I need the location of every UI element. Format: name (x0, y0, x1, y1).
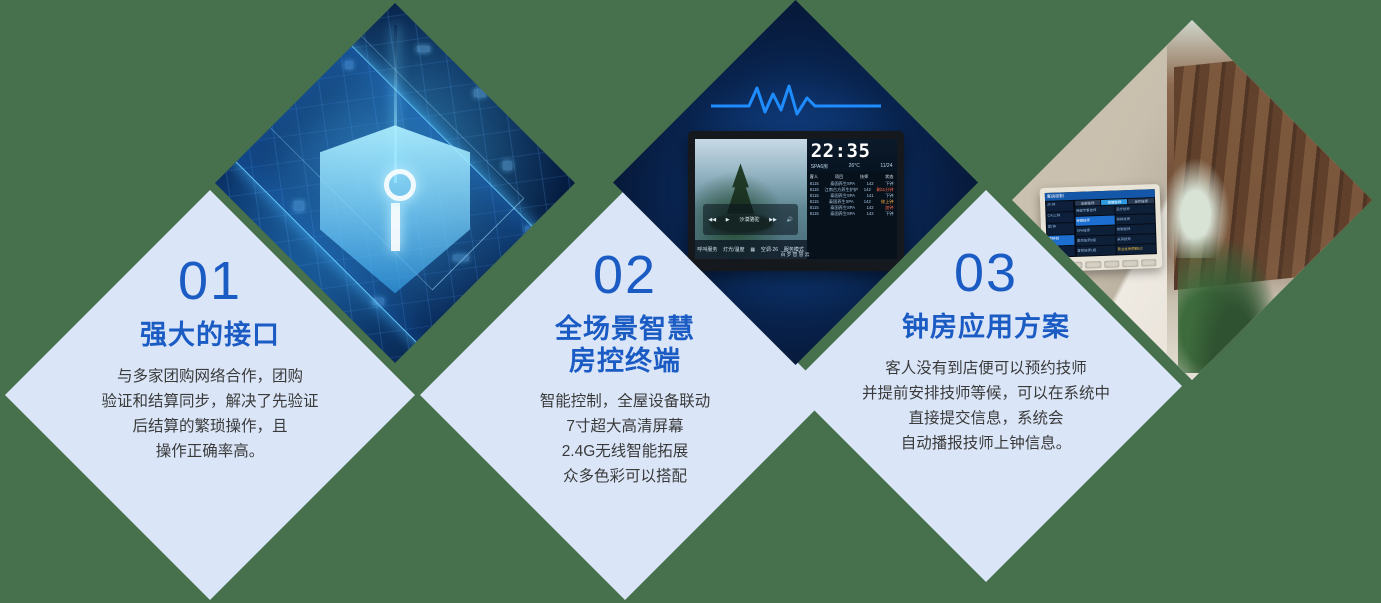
player-track-label: 沙漠骆驼 (739, 216, 759, 223)
card-body-03: 客人没有到店便可以预约技师 并提前安排技师等候，可以在系统中 直接提交信息，系统… (862, 356, 1110, 456)
wall-panel-sidebar-item[interactable]: 圆 钟 (1047, 223, 1074, 234)
card-body-01: 与多家团购网络合作，团购 验证和结算同步，解决了先验证 后结算的繁琐操作，且 操… (101, 364, 318, 464)
wall-panel-sidebar-item[interactable]: 转钟台 (1047, 234, 1074, 245)
wall-panel-sidebar-item[interactable]: 点 钟 (1047, 245, 1074, 256)
wall-panel-grid-item[interactable]: 修脚技师 (1116, 224, 1155, 234)
wall-panel-grid[interactable]: 保健专事技师足疗技师保健技师排钟技师SPA技师修脚技师客房技师2组采耳技师客房技… (1075, 204, 1156, 256)
col-item: 项目 (835, 174, 843, 180)
card-title-01: 强大的接口 (140, 320, 280, 352)
status-pane: 22:35 SPA6房 26°C 11/24 客人 项目 技师 (807, 139, 897, 259)
card-title-03: 钟房应用方案 (902, 312, 1070, 344)
wall-panel-sidebar-item[interactable]: CALL钟 (1046, 212, 1073, 223)
wall-panel-screen[interactable]: 客房控制 点 钟CALL钟圆 钟转钟台点 钟 全部技师保健技师足疗技师 保健专事… (1045, 189, 1157, 258)
tablet-screen[interactable]: ◀◀ ▶ 沙漠骆驼 ▶▶ 🔊 呼叫服务 灯光/温度 ▦ 空调·26 服务模式 (695, 139, 897, 259)
pulse-line-icon (711, 80, 881, 120)
wall-panel-grid-item[interactable]: 排钟技师 (1115, 214, 1154, 224)
wall-panel-tab[interactable]: 全部技师 (1074, 200, 1100, 206)
wall-panel-sidebar-item[interactable]: 点 钟 (1046, 201, 1073, 212)
tablet-brand-logo: 百岁智慧云 (695, 251, 897, 258)
infographic-stage: 01 强大的接口 与多家团购网络合作，团购 验证和结算同步，解决了先验证 后结算… (0, 0, 1381, 603)
tablet-device[interactable]: ◀◀ ▶ 沙漠骆驼 ▶▶ 🔊 呼叫服务 灯光/温度 ▦ 空调·26 服务模式 (688, 131, 904, 271)
previous-track-icon[interactable]: ◀◀ (708, 217, 716, 223)
panel-button-3[interactable] (1085, 261, 1101, 269)
date-value: 11/24 (880, 163, 892, 170)
play-icon[interactable]: ▶ (726, 217, 730, 223)
wall-panel-grid-item[interactable]: 保健专事技师 (1075, 205, 1114, 215)
wall-panel-buttons[interactable] (1048, 259, 1156, 270)
wall-panel-grid-item[interactable]: 客房技师2组 (1076, 235, 1115, 245)
wall-panel-sidebar[interactable]: 点 钟CALL钟圆 钟转钟台点 钟 (1045, 200, 1076, 258)
card-body-02: 智能控制，全屋设备联动 7寸超大高清屏幕 2.4G无线智能拓展 众多色彩可以搭配 (540, 389, 711, 489)
wall-panel-grid-item[interactable]: 营业技师预期5/2 (1116, 244, 1155, 254)
card-number-02: 02 (593, 248, 657, 302)
clock-time: 22:35 (811, 142, 893, 161)
wall-panel-grid-item[interactable]: SPA技师 (1075, 225, 1114, 235)
cell-status: 下钟 (885, 211, 893, 217)
panel-button-5[interactable] (1122, 259, 1138, 267)
table-rows: 8115泰国养生SPA142下钟8116江南古方养生护护142剩11分钟8115… (810, 181, 894, 217)
table-row: 8115泰国养生SPA142下钟 (810, 211, 894, 217)
service-table: 客人 项目 技师 状态 8115泰国养生SPA142下钟8116江南古方养生护护… (807, 172, 897, 259)
card-number-03: 03 (954, 246, 1018, 300)
panel-button-4[interactable] (1103, 260, 1119, 268)
table-header-row: 客人 项目 技师 状态 (810, 174, 894, 180)
wall-panel-grid-item[interactable]: 保健技师 (1075, 215, 1114, 225)
card-number-01: 01 (178, 254, 242, 308)
room-label: SPA6房 (811, 163, 828, 170)
col-status: 状态 (885, 174, 893, 180)
wall-panel-grid-item[interactable]: 足疗技师 (1115, 204, 1154, 214)
cell-item: 泰国养生SPA (830, 211, 855, 217)
wall-panel-tab[interactable]: 足疗技师 (1128, 198, 1154, 204)
col-tech: 技师 (860, 174, 868, 180)
wall-panel-tab[interactable]: 保健技师 (1101, 199, 1127, 205)
wall-panel-grid-item[interactable]: 客房技师1组 (1076, 245, 1115, 255)
clock-widget: 22:35 SPA6房 26°C 11/24 (807, 139, 897, 172)
plant-foreground (1178, 214, 1293, 372)
cell-guest: 8115 (810, 211, 819, 217)
volume-icon[interactable]: 🔊 (787, 217, 793, 223)
wall-panel-grid-item[interactable]: 采耳技师 (1116, 234, 1155, 244)
panel-button-2[interactable] (1066, 261, 1082, 269)
cell-tech: 142 (867, 211, 874, 217)
card-title-02: 全场景智慧 房控终端 (555, 314, 695, 377)
next-track-icon[interactable]: ▶▶ (769, 217, 777, 223)
col-guest: 客人 (810, 174, 818, 180)
panel-button-6[interactable] (1140, 259, 1156, 267)
temperature-value: 26°C (849, 163, 860, 170)
music-player[interactable]: ◀◀ ▶ 沙漠骆驼 ▶▶ 🔊 (703, 204, 797, 235)
wall-mounted-panel[interactable]: 客房控制 点 钟CALL钟圆 钟转钟台点 钟 全部技师保健技师足疗技师 保健专事… (1039, 184, 1162, 272)
wallpaper-pane: ◀◀ ▶ 沙漠骆驼 ▶▶ 🔊 呼叫服务 灯光/温度 ▦ 空调·26 服务模式 (695, 139, 807, 259)
